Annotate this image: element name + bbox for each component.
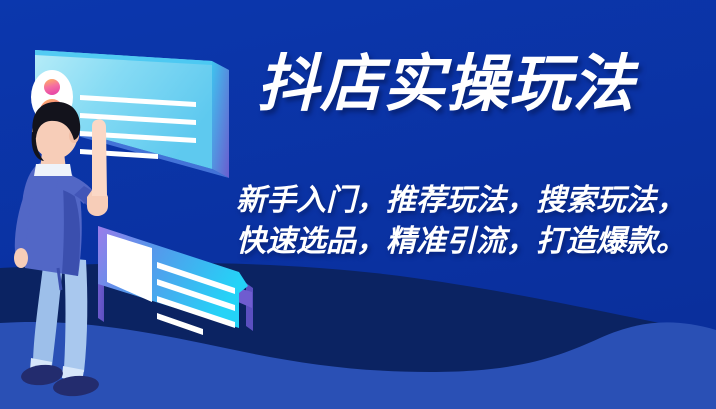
person-index-finger	[92, 119, 107, 196]
promo-poster: 抖店实操玩法 新手入门，推荐玩法，搜索玩法，快速选品，精准引流，打造爆款。	[0, 0, 716, 409]
person-collar	[34, 164, 72, 176]
person-hand-left	[14, 248, 28, 268]
person-back-view-pointing	[14, 102, 108, 398]
profile-card-edge	[212, 61, 229, 178]
hero-illustration	[0, 0, 716, 409]
floating-content-card	[98, 226, 253, 335]
